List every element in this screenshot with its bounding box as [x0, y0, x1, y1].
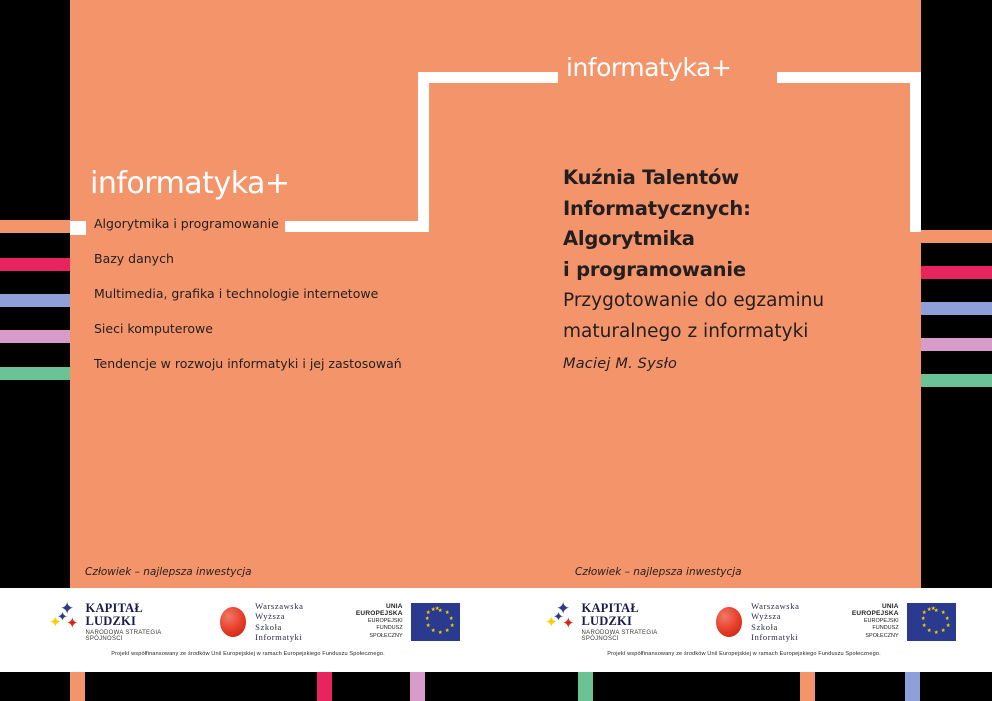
logo-wsi-line2: Wyższa Szkoła	[751, 611, 803, 632]
toc-item: Bazy danych	[94, 253, 494, 288]
logo-wsi-line2: Wyższa Szkoła	[255, 611, 307, 632]
title-line: Informatycznych:	[563, 194, 893, 225]
logo-kapital-ludzki-name: KAPITAŁ LUDZKI	[86, 602, 178, 628]
sponsor-logo-row: ✦ ✦ ✦ ✦ KAPITAŁ LUDZKI NARODOWA STRATEGI…	[40, 599, 460, 644]
frame-right-vertical	[910, 72, 921, 232]
red-sphere-icon	[220, 607, 246, 637]
motto-back: Człowiek – najlepsza inwestycja	[85, 566, 252, 578]
stars-human-figure-icon: ✦ ✦ ✦ ✦	[544, 602, 575, 642]
logo-wsi: Warszawska Wyższa Szkoła Informatyki	[716, 601, 803, 643]
footer-logos-back: ✦ ✦ ✦ ✦ KAPITAŁ LUDZKI NARODOWA STRATEGI…	[0, 588, 496, 672]
stripe-tick-pink-right	[921, 338, 992, 351]
frame-top-rule-right	[777, 72, 921, 83]
logo-kapital-ludzki-name: KAPITAŁ LUDZKI	[582, 602, 674, 628]
footer-logos-front: ✦ ✦ ✦ ✦ KAPITAŁ LUDZKI NARODOWA STRATEGI…	[496, 588, 992, 672]
toc-item: Multimedia, grafika i technologie intern…	[94, 288, 494, 323]
logo-unia-europejska: UNIA EUROPEJSKA EUROPEJSKI FUNDUSZ SPOŁE…	[347, 603, 460, 641]
logo-ue-line3: FUNDUSZ SPOŁECZNY	[347, 625, 402, 640]
logo-wsi-line1: Warszawska	[255, 601, 307, 612]
toc-item: Tendencje w rozwoju informatyki i jej za…	[94, 358, 494, 393]
book-cover-spread: informatyka+ Algorytmika i programowanie…	[0, 0, 992, 701]
toc-item: Algorytmika i programowanie	[94, 218, 494, 253]
eu-flag-icon: ★ ★ ★ ★ ★ ★ ★ ★ ★ ★ ★ ★	[411, 603, 460, 641]
stripe-tick-crimson-right	[921, 266, 992, 279]
bottom-tick-crimson	[317, 672, 332, 701]
title-line: Algorytmika	[563, 224, 893, 255]
logo-wsi-line3: Informatyki	[751, 632, 803, 643]
sponsor-logo-row: ✦ ✦ ✦ ✦ KAPITAŁ LUDZKI NARODOWA STRATEGI…	[536, 599, 956, 644]
subtitle-line: Przygotowanie do egzaminu	[563, 285, 893, 316]
footer-funding-note: Projekt współfinansowany ze środków Unii…	[0, 651, 496, 657]
logo-ue-line1: UNIA EUROPEJSKA	[843, 603, 898, 618]
toc-item: Sieci komputerowe	[94, 323, 494, 358]
logo-ue-line2: EUROPEJSKI	[347, 618, 402, 626]
red-sphere-icon	[716, 607, 742, 637]
title-line: Kuźnia Talentów	[563, 163, 893, 194]
logo-ue-line3: FUNDUSZ SPOŁECZNY	[843, 625, 898, 640]
motto-front: Człowiek – najlepsza inwestycja	[575, 566, 742, 578]
title-line: i programowanie	[563, 255, 893, 286]
logo-ue-line1: UNIA EUROPEJSKA	[347, 603, 402, 618]
logo-unia-europejska: UNIA EUROPEJSKA EUROPEJSKI FUNDUSZ SPOŁE…	[843, 603, 956, 641]
stars-human-figure-icon: ✦ ✦ ✦ ✦	[48, 602, 79, 642]
brand-wordmark-back: informatyka+	[90, 166, 290, 201]
subtitle-line: maturalnego z informatyki	[563, 316, 893, 347]
stripe-tick-pink-left	[0, 330, 70, 343]
stripe-tick-crimson-left	[0, 258, 70, 271]
front-cover-title-block: Kuźnia Talentów Informatycznych: Algoryt…	[563, 163, 893, 372]
stripe-tick-orange-right	[921, 230, 992, 243]
eu-flag-icon: ★ ★ ★ ★ ★ ★ ★ ★ ★ ★ ★ ★	[907, 603, 956, 641]
table-of-contents: Algorytmika i programowanie Bazy danych …	[94, 218, 494, 393]
logo-kapital-ludzki: ✦ ✦ ✦ ✦ KAPITAŁ LUDZKI NARODOWA STRATEGI…	[544, 602, 674, 642]
stripe-tick-periwinkle-right	[921, 302, 992, 315]
bottom-tick-periwinkle	[905, 672, 920, 701]
stripe-tick-periwinkle-left	[0, 294, 70, 307]
footer-funding-note: Projekt współfinansowany ze środków Unii…	[496, 651, 992, 657]
logo-ue-line2: EUROPEJSKI	[843, 618, 898, 626]
right-black-margin	[921, 0, 992, 588]
toc-active-marker	[70, 221, 86, 235]
stripe-tick-green-left	[0, 367, 70, 380]
author-name: Maciej M. Sysło	[563, 356, 893, 372]
bottom-tick-green	[578, 672, 593, 701]
bottom-tick-orange	[70, 672, 85, 701]
logo-wsi-line3: Informatyki	[255, 632, 307, 643]
stripe-tick-orange-left	[0, 220, 70, 233]
frame-top-rule-left	[418, 72, 558, 83]
logo-wsi: Warszawska Wyższa Szkoła Informatyki	[220, 601, 307, 643]
bottom-black-band	[0, 672, 992, 701]
brand-wordmark-front: informatyka+	[566, 53, 731, 82]
footer-band: ✦ ✦ ✦ ✦ KAPITAŁ LUDZKI NARODOWA STRATEGI…	[0, 588, 992, 672]
bottom-tick-pink	[410, 672, 425, 701]
stripe-tick-green-right	[921, 374, 992, 387]
frame-left-vertical	[418, 72, 429, 232]
logo-kapital-ludzki-tagline: NARODOWA STRATEGIA SPÓJNOŚCI	[86, 630, 178, 642]
logo-wsi-line1: Warszawska	[751, 601, 803, 612]
logo-kapital-ludzki-tagline: NARODOWA STRATEGIA SPÓJNOŚCI	[582, 630, 674, 642]
bottom-tick-orange-2	[800, 672, 815, 701]
logo-kapital-ludzki: ✦ ✦ ✦ ✦ KAPITAŁ LUDZKI NARODOWA STRATEGI…	[48, 602, 178, 642]
